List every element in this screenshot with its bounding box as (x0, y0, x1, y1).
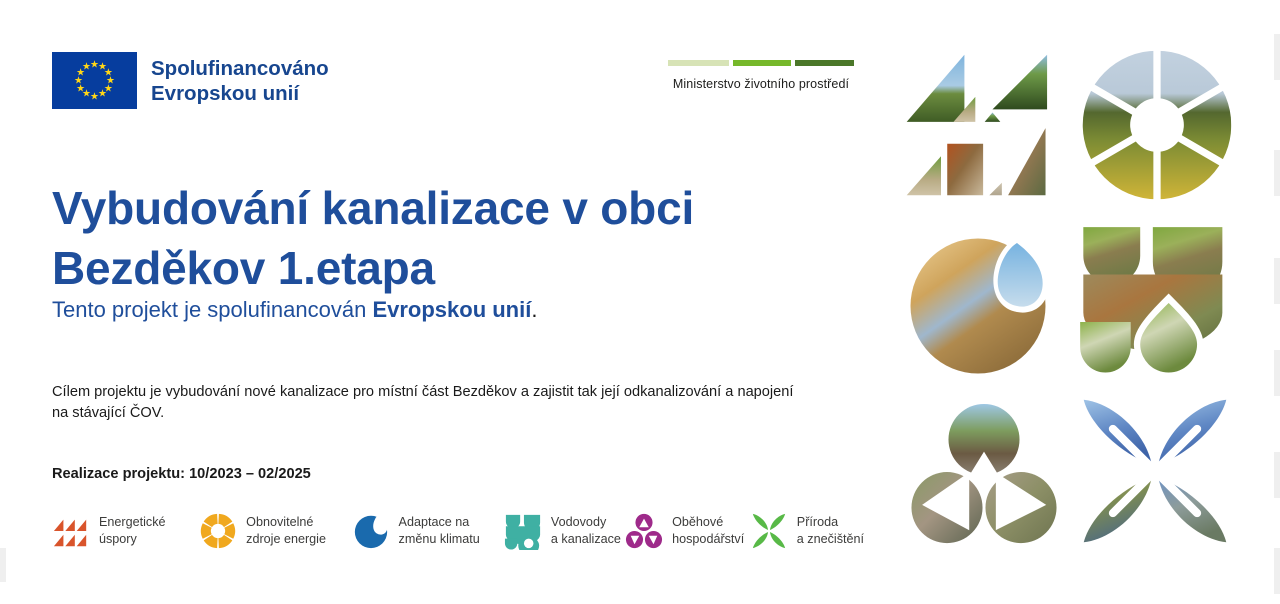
priority-axis-nature-pollution: Přírodaa znečištění (750, 512, 864, 550)
priority-axis-label-line1: Oběhové (672, 514, 744, 531)
page-edge-tick (1274, 452, 1280, 498)
eu-logo-line1: Spolufinancováno (151, 56, 329, 81)
realization-label: Realizace projektu: 10/2023 – 02/2025 (52, 466, 311, 482)
ministry-bar-light (668, 60, 729, 66)
priority-axis-label-line2: a znečištění (797, 531, 864, 548)
priority-axis-label: Adaptace nazměnu klimatu (399, 514, 480, 547)
priority-axis-label-line1: Příroda (797, 514, 864, 531)
priority-axis-label-line2: zdroje energie (246, 531, 326, 548)
subtitle-prefix: Tento projekt je spolufinancován (52, 297, 372, 322)
priority-axis-renewable-energy: Obnovitelnézdroje energie (199, 512, 351, 550)
photo-mark-water (1076, 224, 1236, 382)
ministry-bars (668, 60, 854, 66)
priority-axis-label-line2: a kanalizace (551, 531, 621, 548)
photo-mark-renewable (1078, 46, 1236, 204)
photo-collage (896, 40, 1252, 568)
ministry-logo: Ministerstvo životního prostředí (668, 60, 854, 91)
priority-axis-label: Vodovodya kanalizace (551, 514, 621, 547)
climate-adaptation-icon (352, 512, 390, 550)
priority-axis-label-line1: Energetické (99, 514, 166, 531)
page-title: Vybudování kanalizace v obci Bezděkov 1.… (52, 179, 792, 299)
eu-logo-text: Spolufinancováno Evropskou unií (151, 56, 329, 106)
circular-economy-icon (625, 512, 663, 550)
page-edge-tick (1274, 150, 1280, 196)
eu-logo: ★★★★★★★★★★★★ Spolufinancováno Evropskou … (52, 52, 329, 109)
priority-axis-strip: EnergetickéúsporyObnovitelnézdroje energ… (52, 512, 864, 550)
priority-axis-label: Oběhovéhospodářství (672, 514, 744, 547)
nature-pollution-icon (750, 512, 788, 550)
photo-mark-energy-savings (902, 46, 1058, 204)
page-edge-tick (1274, 34, 1280, 80)
eu-star-icon: ★ (90, 92, 99, 101)
eu-flag-icon: ★★★★★★★★★★★★ (52, 52, 137, 109)
ministry-bar-mid (733, 60, 792, 66)
eu-star-icon: ★ (82, 62, 91, 71)
priority-axis-label: Přírodaa znečištění (797, 514, 864, 547)
priority-axis-label: Obnovitelnézdroje energie (246, 514, 326, 547)
priority-axis-water-supply-sewerage: Vodovodya kanalizace (504, 512, 625, 550)
renewable-energy-icon (199, 512, 237, 550)
page-edge-tick (1274, 350, 1280, 396)
body-paragraph: Cílem projektu je vybudování nové kanali… (52, 382, 812, 426)
eu-star-icon: ★ (98, 90, 107, 99)
priority-axis-energy-savings: Energetickéúspory (52, 512, 199, 550)
photo-mark-circular (910, 396, 1058, 554)
subtitle: Tento projekt je spolufinancován Evropsk… (52, 297, 537, 323)
photo-mark-nature (1074, 390, 1236, 552)
priority-axis-label-line1: Vodovody (551, 514, 621, 531)
page-edge-tick (1274, 258, 1280, 304)
eu-logo-line2: Evropskou unií (151, 81, 329, 106)
priority-axis-label-line1: Adaptace na (399, 514, 480, 531)
subtitle-suffix: . (531, 297, 537, 322)
priority-axis-label-line2: hospodářství (672, 531, 744, 548)
priority-axis-climate-adaptation: Adaptace nazměnu klimatu (352, 512, 504, 550)
page-edge-tick (0, 548, 6, 582)
photo-mark-climate (906, 228, 1056, 378)
water-supply-sewerage-icon (504, 512, 542, 550)
priority-axis-label-line2: úspory (99, 531, 166, 548)
subtitle-strong: Evropskou unií (372, 297, 531, 322)
priority-axis-label-line1: Obnovitelné (246, 514, 326, 531)
poster-canvas: ★★★★★★★★★★★★ Spolufinancováno Evropskou … (0, 0, 1280, 604)
energy-savings-icon (52, 512, 90, 550)
priority-axis-label-line2: změnu klimatu (399, 531, 480, 548)
priority-axis-circular-economy: Oběhovéhospodářství (625, 512, 750, 550)
priority-axis-label: Energetickéúspory (99, 514, 166, 547)
page-edge-tick (1274, 548, 1280, 594)
ministry-bar-dark (795, 60, 854, 66)
ministry-label: Ministerstvo životního prostředí (668, 77, 854, 91)
